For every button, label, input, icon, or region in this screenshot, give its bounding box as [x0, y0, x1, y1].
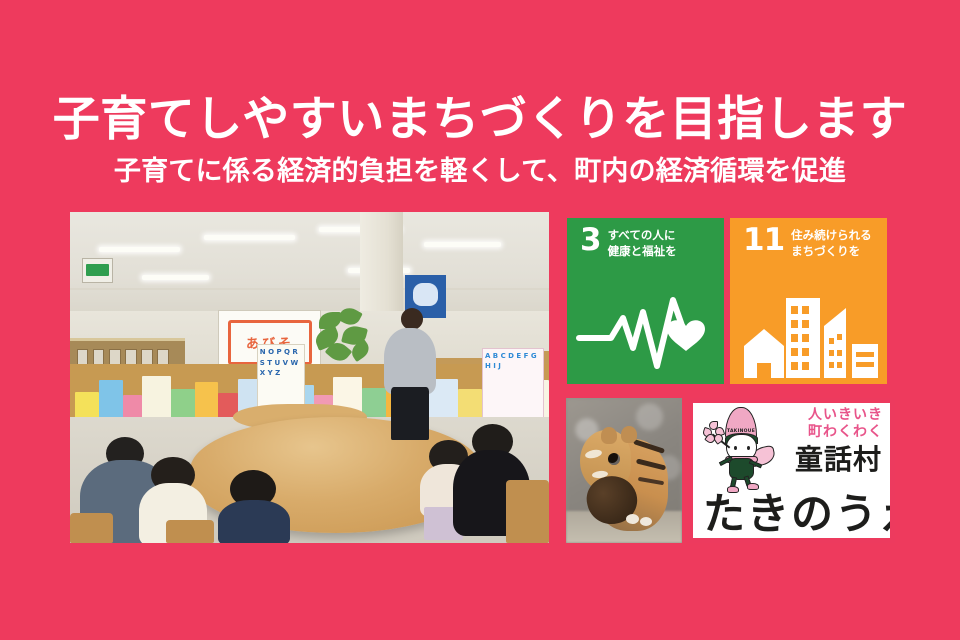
- library-photo: あびそ: [70, 212, 549, 543]
- ceiling-light: [424, 242, 501, 247]
- mascot-flower-icon: [703, 421, 725, 443]
- sdg-goal-11-line1: 住み続けられる: [791, 228, 872, 244]
- chipmunk-ear: [621, 426, 637, 443]
- ceiling-light: [142, 275, 209, 280]
- chipmunk-ear: [601, 427, 617, 444]
- page-title: 子育てしやすいまちづくりを目指します: [0, 96, 960, 145]
- chair: [70, 513, 113, 543]
- chair: [506, 480, 549, 543]
- heartbeat-icon: [567, 282, 724, 378]
- chipmunk-photo: [566, 398, 682, 543]
- chair: [166, 520, 214, 543]
- person-legs: [391, 387, 429, 440]
- sdg-goal-11-number: 11: [743, 225, 784, 256]
- sdg-goal-11-badge[interactable]: 11 住み続けられる まちづくりを: [730, 218, 887, 384]
- ceiling-light: [204, 235, 295, 240]
- sdg-goal-3-line1: すべての人に: [608, 228, 677, 244]
- ceiling: [70, 212, 549, 321]
- takinoue-logo[interactable]: TAKINOUE 人いきいき 町わくわく: [688, 398, 895, 543]
- ceiling-light: [99, 247, 180, 252]
- logo-tagline-line2: 町わくわく: [808, 424, 883, 441]
- person-head: [401, 308, 423, 330]
- sdg-goal-11-text: 住み続けられる まちづくりを: [791, 227, 872, 259]
- sdg-goal-11-heading: 11 住み続けられる まちづくりを: [743, 227, 872, 259]
- poster-canvas: 子育てしやすいまちづくりを目指します 子育てに係る経済的負担を軽くして、町内の経…: [0, 0, 960, 640]
- sdg-goal-11-line2: まちづくりを: [791, 244, 872, 260]
- potted-plant: [312, 308, 379, 368]
- sdg-goal-3-number: 3: [580, 225, 601, 256]
- logo-town-name: たきのうえ: [703, 493, 895, 536]
- chipmunk-paw: [640, 517, 652, 526]
- sdg-goal-3-text: すべての人に 健康と福祉を: [608, 227, 677, 259]
- logo-tagline-line1: 人いきいき: [808, 407, 883, 424]
- sdg-goal-3-line2: 健康と福祉を: [608, 244, 677, 260]
- logo-tagline: 人いきいき 町わくわく: [808, 407, 883, 440]
- cityscape-icon: [730, 282, 887, 378]
- sdg-goal-3-heading: 3 すべての人に 健康と福祉を: [580, 227, 677, 259]
- takinoue-mascot: TAKINOUE: [703, 407, 775, 495]
- ceiling-beam: [70, 288, 549, 290]
- exit-sign-icon: [82, 258, 113, 283]
- page-subtitle: 子育てに係る経済的負担を軽くして、町内の経済循環を促進: [0, 157, 960, 187]
- library-photo-scene: あびそ: [70, 212, 549, 543]
- chipmunk-eye: [608, 453, 620, 465]
- sdg-goal-3-badge[interactable]: 3 すべての人に 健康と福祉を: [567, 218, 724, 384]
- person-body: [218, 500, 290, 543]
- person-body: [384, 328, 437, 394]
- logo-title: 童話村: [795, 446, 882, 474]
